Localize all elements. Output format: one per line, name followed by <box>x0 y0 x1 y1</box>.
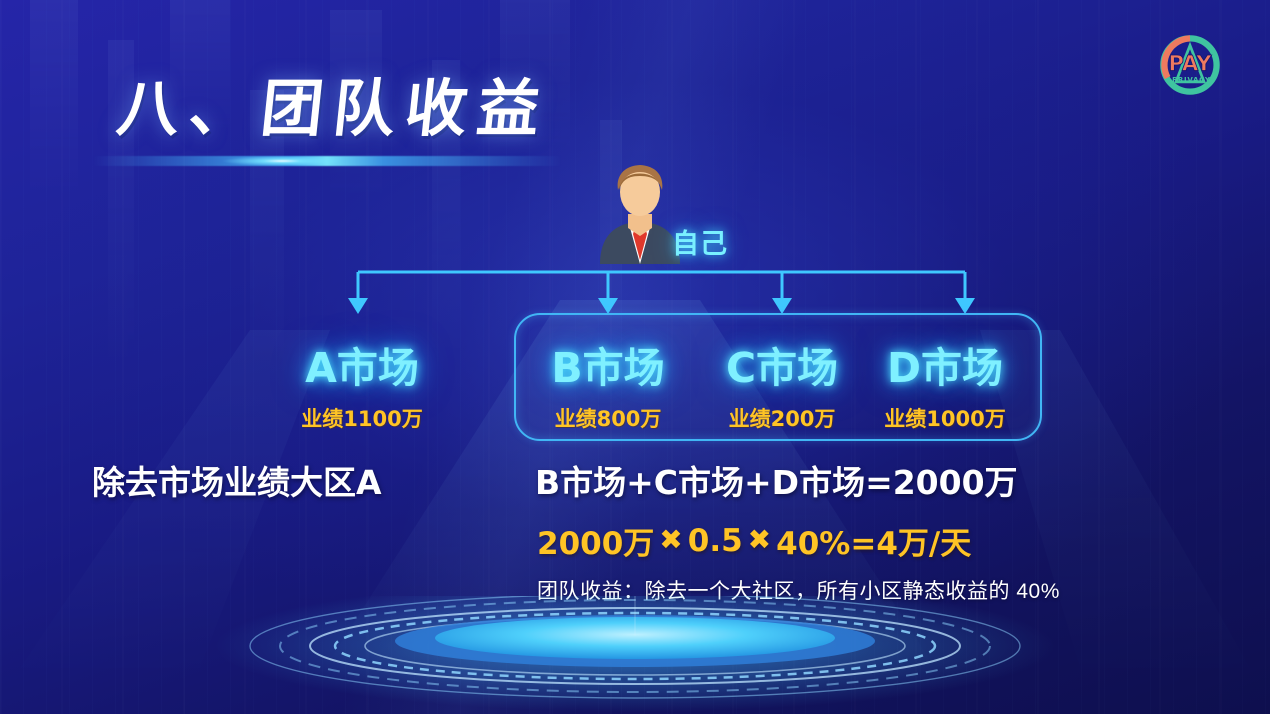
market-d-name: D市场 <box>845 334 1045 394</box>
multiply-icon-2: ✖ <box>748 526 771 554</box>
slide-canvas: PAY PRIVACY 八、团队收益 自己 A市场 <box>0 0 1270 714</box>
market-a-name: A市场 <box>262 334 462 394</box>
stage-platform <box>0 596 1270 714</box>
market-node-b[interactable]: B市场 业绩800万 <box>508 334 708 433</box>
page-title: 八、团队收益 <box>113 58 554 148</box>
statement-exclude-a: 除去市场业绩大区A <box>92 456 382 504</box>
logo-primary-text: PAY <box>1169 52 1213 76</box>
market-b-name: B市场 <box>508 334 708 394</box>
formula-part-2: 0.5 <box>688 523 743 559</box>
market-a-performance: 业绩1100万 <box>262 403 462 433</box>
statement-formula: 2000万 ✖ 0.5 ✖ 40%=4万/天 <box>537 518 971 563</box>
statement-sum: B市场+C市场+D市场=2000万 <box>535 456 1018 504</box>
market-b-performance: 业绩800万 <box>508 403 708 433</box>
logo-secondary-text: PRIVACY <box>1172 76 1211 84</box>
market-node-a[interactable]: A市场 业绩1100万 <box>262 334 462 433</box>
pay-privacy-logo[interactable]: PAY PRIVACY <box>1155 30 1225 100</box>
title-glow-divider <box>92 156 562 166</box>
multiply-icon-1: ✖ <box>659 526 682 554</box>
market-d-performance: 业绩1000万 <box>845 403 1045 433</box>
formula-part-1: 2000万 <box>537 518 654 563</box>
formula-part-3: 40%=4万/天 <box>776 518 971 563</box>
market-node-d[interactable]: D市场 业绩1000万 <box>845 334 1045 433</box>
